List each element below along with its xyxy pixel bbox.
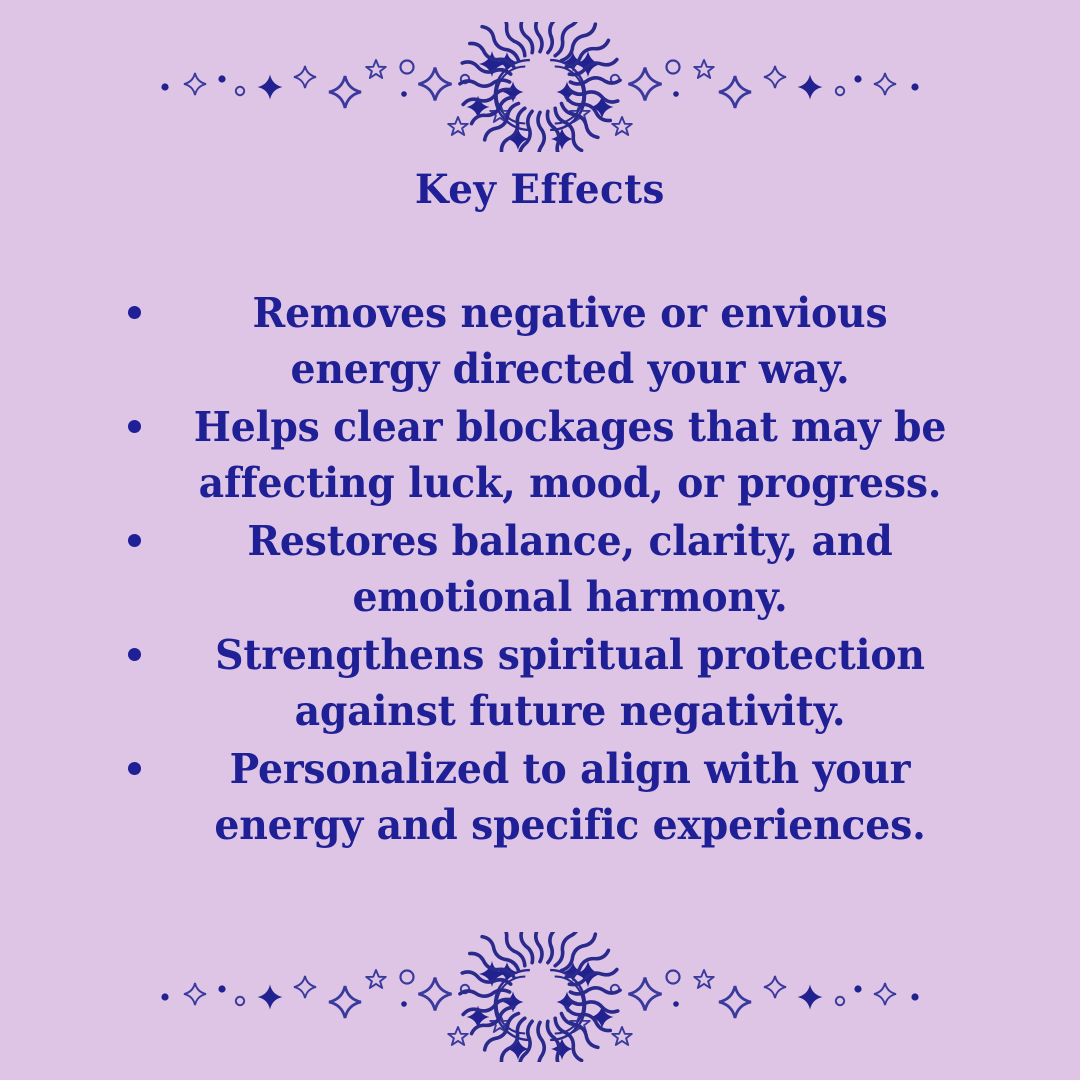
list-item-text: Strengthens spiritual protection against…: [188, 627, 952, 739]
ornament-left-cluster: [161, 51, 589, 150]
bullet-icon: [128, 762, 141, 775]
list-item: Personalized to align with your energy a…: [0, 741, 1080, 853]
sun-burst-icon: [460, 22, 620, 152]
list-item-text: Removes negative or envious energy direc…: [188, 285, 952, 397]
bullet-icon: [128, 306, 141, 319]
celestial-divider-top: [0, 22, 1080, 152]
ornament-right-cluster: [490, 51, 918, 150]
list-item: Strengthens spiritual protection against…: [0, 627, 1080, 739]
list-item-text: Restores balance, clarity, and emotional…: [188, 513, 952, 625]
list-item: Restores balance, clarity, and emotional…: [0, 513, 1080, 625]
list-item-text: Helps clear blockages that may be affect…: [188, 399, 952, 511]
ornament-left-cluster: [161, 961, 589, 1060]
bullet-icon: [128, 534, 141, 547]
list-item: Helps clear blockages that may be affect…: [0, 399, 1080, 511]
page-title: Key Effects: [415, 168, 665, 212]
bullet-icon: [128, 648, 141, 661]
poster-canvas: Key Effects Removes negative or envious …: [0, 0, 1080, 1080]
list-item-text: Personalized to align with your energy a…: [188, 741, 952, 853]
list-item: Removes negative or envious energy direc…: [0, 285, 1080, 397]
page-title-container: Key Effects: [0, 168, 1080, 212]
bullet-icon: [128, 420, 141, 433]
ornament-right-cluster: [490, 961, 918, 1060]
key-effects-list: Removes negative or envious energy direc…: [0, 285, 1080, 855]
sun-burst-icon: [460, 932, 620, 1062]
celestial-divider-bottom: [0, 932, 1080, 1062]
